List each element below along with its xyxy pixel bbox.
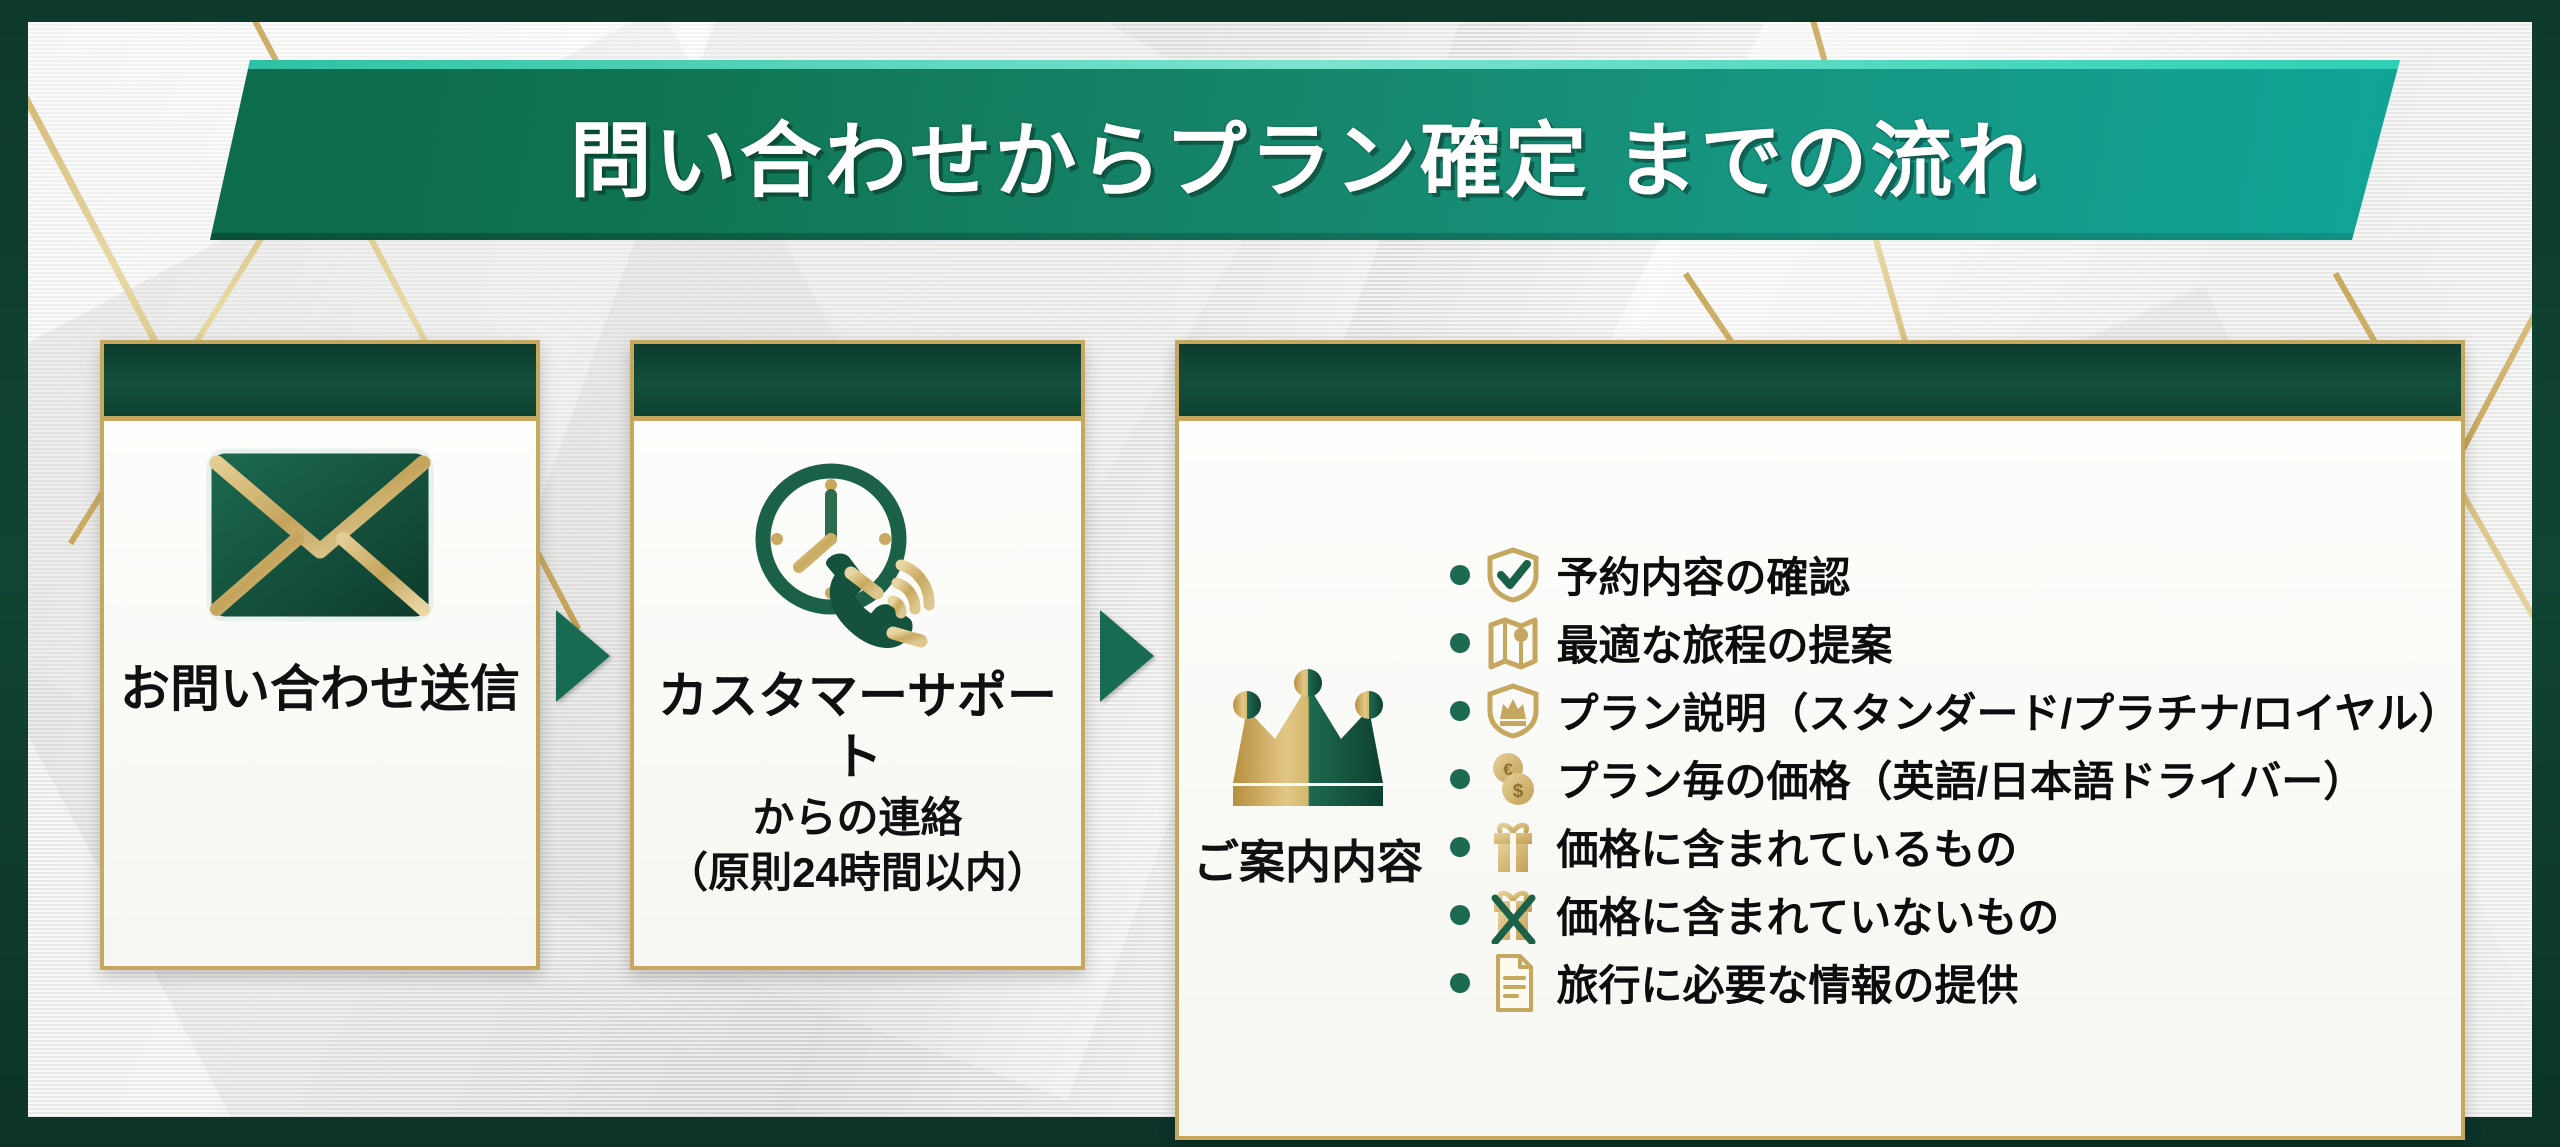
card-body: カスタマーサポート からの連絡 （原則24時間以内） (634, 421, 1081, 966)
check-shield-icon (1484, 547, 1542, 603)
step-card-1: お問い合わせ送信 (100, 340, 540, 970)
coins-icon: € $ (1484, 750, 1542, 808)
step-card-2-label-line3: （原則24時間以内） (644, 847, 1071, 898)
card-header-bar (104, 344, 536, 421)
bullet-dot (1450, 905, 1470, 925)
map-icon (1484, 615, 1542, 671)
card-header-bar (634, 344, 1081, 421)
info-panel-inner: ご案内内容 予約内容の確認 (1155, 421, 2484, 1136)
clock-phone-icon (733, 447, 983, 662)
step-card-2-label-line1: カスタマーサポート (658, 668, 1057, 785)
bullet-dot (1450, 973, 1470, 993)
step-card-2-label: カスタマーサポート からの連絡 （原則24時間以内） (644, 666, 1071, 898)
title-banner: 問い合わせからプラン確定 までの流れ (210, 60, 2400, 240)
list-item-label: 価格に含まれているもの (1556, 816, 2017, 877)
step-card-2: カスタマーサポート からの連絡 （原則24時間以内） (630, 340, 1085, 970)
list-item-label: プラン毎の価格（英語/日本語ドライバー） (1556, 748, 2365, 809)
svg-text:$: $ (1513, 781, 1524, 802)
list-item-label: 最適な旅程の提案 (1556, 612, 1892, 673)
crown-shield-icon (1484, 683, 1542, 739)
list-item: 価格に含まれているもの (1450, 815, 2460, 879)
list-item: 旅行に必要な情報の提供 (1450, 951, 2460, 1015)
info-panel-card: ご案内内容 予約内容の確認 (1175, 340, 2465, 1140)
list-item: 予約内容の確認 (1450, 543, 2460, 607)
list-item: プラン説明（スタンダード/プラチナ/ロイヤル） (1450, 679, 2460, 743)
bullet-dot (1450, 769, 1470, 789)
card-body: お問い合わせ送信 (104, 421, 536, 966)
card-header-bar (1179, 344, 2461, 421)
envelope-icon (205, 447, 435, 623)
list-item-label: プラン説明（スタンダード/プラチナ/ロイヤル） (1556, 680, 2460, 741)
list-item: 価格に含まれていないもの (1450, 883, 2460, 947)
crown-icon (1213, 665, 1403, 810)
step-card-2-label-line2: からの連絡 (644, 792, 1071, 843)
gold-accent-line (2458, 22, 2532, 455)
page-title: 問い合わせからプラン確定 までの流れ (570, 94, 2041, 213)
gift-icon (1484, 818, 1542, 876)
bullet-dot (1450, 837, 1470, 857)
list-item-label: 予約内容の確認 (1556, 544, 1850, 605)
arrow-step1-to-step2 (556, 610, 610, 702)
card-body: ご案内内容 予約内容の確認 (1179, 421, 2461, 1136)
info-panel-left: ご案内内容 (1165, 665, 1450, 892)
bullet-dot (1450, 701, 1470, 721)
slide-canvas: 問い合わせからプラン確定 までの流れ (0, 0, 2560, 1147)
list-item: 最適な旅程の提案 (1450, 611, 2460, 675)
bullet-dot (1450, 633, 1470, 653)
info-panel-label: ご案内内容 (1193, 826, 1423, 892)
info-bullet-list: 予約内容の確認 最適な旅程の提案 (1450, 543, 2460, 1015)
step-card-1-label: お問い合わせ送信 (120, 659, 520, 720)
gift-crossed-icon (1484, 886, 1542, 944)
list-item: € $ プラン毎の価格（英語/日本語ドライバー） (1450, 747, 2460, 811)
bullet-dot (1450, 565, 1470, 585)
arrow-step2-to-step3 (1100, 610, 1154, 702)
list-item-label: 旅行に必要な情報の提供 (1556, 952, 2018, 1013)
list-item-label: 価格に含まれていないもの (1556, 884, 2059, 945)
document-icon (1484, 953, 1542, 1013)
